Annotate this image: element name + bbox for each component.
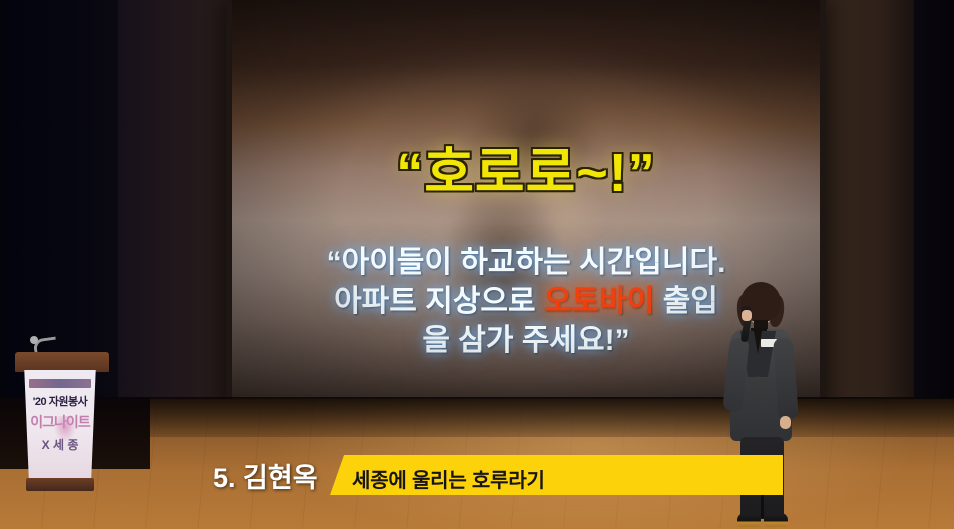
speaker-shoe-left	[737, 513, 761, 527]
slide-body-line-1: “아이들이 하교하는 시간입니다.	[252, 243, 800, 282]
podium-top	[15, 352, 109, 372]
podium-banner-top-strip	[29, 379, 91, 388]
slide-body-highlight: 오토바이	[544, 285, 654, 318]
slide-body-line-2-after: 출입	[654, 285, 718, 318]
slide-body-line-1-text: “아이들이 하교하는 시간입니다.	[327, 246, 726, 279]
auditorium-wall-left-inner	[118, 0, 228, 430]
lower-third-speaker-name: 5. 김현옥	[213, 456, 318, 495]
lower-third-overlay: 5. 김현옥 세종에 울리는 호루라기	[0, 448, 954, 504]
slide-headline: “호로로~!”	[232, 128, 820, 207]
podium-banner-line-1: '20 자원봉사	[22, 393, 98, 409]
speaker-hand-right	[780, 416, 791, 429]
speaker-shoe-right	[764, 513, 788, 527]
podium-banner-graphic	[54, 416, 76, 442]
video-frame: “호로로~!” “아이들이 하교하는 시간입니다. 아파트 지상으로 오토바이 …	[0, 0, 954, 529]
slide-body-line-2-before: 아파트 지상으로	[334, 285, 544, 318]
lower-third-talk-title: 세종에 울리는 호루라기	[352, 464, 545, 493]
speaker-hand-holding-mic	[742, 310, 752, 321]
slide-body-line-3-text: 을 삼가 주세요!”	[422, 324, 629, 357]
podium-microphone-icon	[30, 336, 38, 344]
